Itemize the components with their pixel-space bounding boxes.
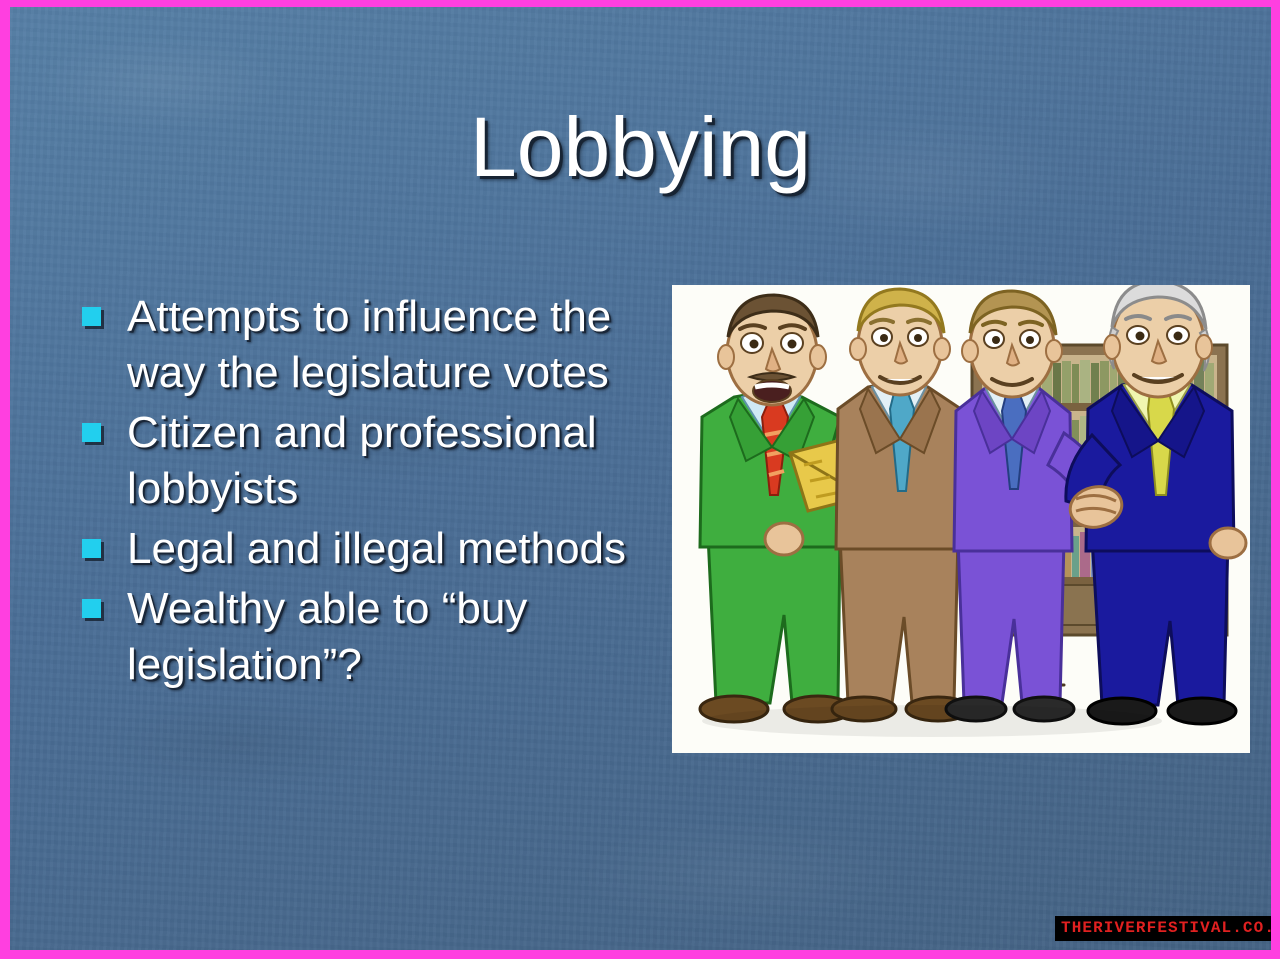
list-item: Legal and illegal methods	[82, 521, 642, 577]
list-item: Attempts to influence the way the legisl…	[82, 289, 642, 401]
list-item: Wealthy able to “buy legislation”?	[82, 581, 642, 693]
bullet-square-icon	[82, 307, 101, 326]
bullet-square-icon	[82, 539, 101, 558]
list-item-label: Attempts to influence the way the legisl…	[127, 289, 642, 401]
slide-canvas: Lobbying Attempts to influence the way t…	[10, 7, 1271, 950]
slide-magenta-frame: Lobbying Attempts to influence the way t…	[0, 0, 1280, 959]
clipart-illustration	[672, 285, 1250, 753]
clipart-image	[672, 285, 1250, 753]
list-item-label: Citizen and professional lobbyists	[127, 405, 642, 517]
list-item-label: Legal and illegal methods	[127, 521, 642, 577]
watermark-badge: THERIVERFESTIVAL.CO.UK	[1055, 916, 1271, 941]
bullet-square-icon	[82, 599, 101, 618]
bullet-list: Attempts to influence the way the legisl…	[82, 289, 642, 697]
list-item-label: Wealthy able to “buy legislation”?	[127, 581, 642, 693]
bullet-square-icon	[82, 423, 101, 442]
list-item: Citizen and professional lobbyists	[82, 405, 642, 517]
page-title: Lobbying	[10, 105, 1271, 189]
